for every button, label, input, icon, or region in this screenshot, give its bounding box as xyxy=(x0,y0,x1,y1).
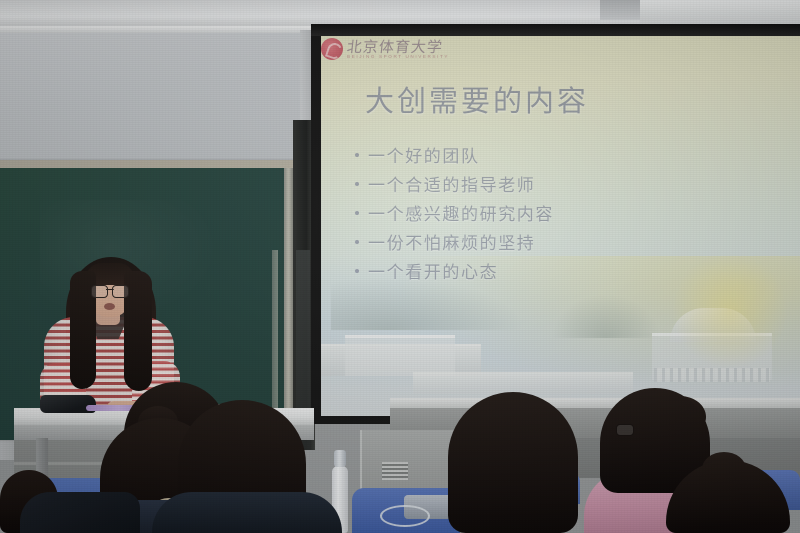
eyeglasses-lens-right xyxy=(112,285,129,298)
bullet-dot-icon xyxy=(355,182,359,186)
slide-bullet-item: 一个感兴趣的研究内容 xyxy=(355,198,755,227)
audience-body-center xyxy=(152,492,342,533)
water-bottle-cap xyxy=(334,450,346,467)
slide-title: 大创需要的内容 xyxy=(365,78,589,120)
audience-eyeglasses-icon xyxy=(616,424,634,436)
slide-bullet-item: 一个好的团队 xyxy=(355,140,755,169)
university-logo: 北京体育大学 BEIJING SPORT UNIVERSITY xyxy=(321,36,501,68)
bullet-dot-icon xyxy=(355,153,359,157)
chalkboard-slide-rail xyxy=(284,168,293,448)
slide-watermark-trees-left xyxy=(331,278,521,330)
projection-screen-top-bar xyxy=(311,24,800,36)
slide-bullet-item: 一份不怕麻烦的坚持 xyxy=(355,227,755,256)
bullet-dot-icon xyxy=(355,240,359,244)
slide-bullet-item: 一个看开的心态 xyxy=(355,256,755,285)
eyeglasses-icon xyxy=(91,285,129,296)
podium-vent-grille xyxy=(382,462,408,480)
university-name-english: BEIJING SPORT UNIVERSITY xyxy=(347,54,449,59)
bullet-dot-icon xyxy=(355,211,359,215)
slide-bullet-text: 一个感兴趣的研究内容 xyxy=(368,200,554,225)
audience-head-long-hair-right xyxy=(448,392,578,533)
bullet-dot-icon xyxy=(355,269,359,273)
back-bench-top xyxy=(390,398,800,408)
slide-bullet-text: 一个好的团队 xyxy=(368,142,480,167)
wall-upper-left xyxy=(0,33,322,163)
eyeglasses-lens-left xyxy=(91,285,108,298)
slide-bullet-text: 一个看开的心态 xyxy=(368,258,498,283)
presenter-mouth-speaking xyxy=(104,303,115,310)
swirl-emblem-icon xyxy=(321,38,343,60)
audience-body-far-left xyxy=(20,492,140,533)
slide-watermark-trees-center xyxy=(551,294,661,338)
projected-slide: 北京体育大学 BEIJING SPORT UNIVERSITY 大创需要的内容 … xyxy=(321,36,800,416)
clear-ring-objects xyxy=(380,505,430,527)
slide-bullet-list: 一个好的团队 一个合适的指导老师 一个感兴趣的研究内容 一份不怕麻烦的坚持 一个… xyxy=(355,140,755,285)
slide-bullet-text: 一个合适的指导老师 xyxy=(368,171,535,196)
slide-bullet-text: 一份不怕麻烦的坚持 xyxy=(368,229,535,254)
slide-bullet-item: 一个合适的指导老师 xyxy=(355,169,755,198)
classroom-presentation-photo: 北京体育大学 BEIJING SPORT UNIVERSITY 大创需要的内容 … xyxy=(0,0,800,533)
wall-upper-right xyxy=(640,0,800,24)
